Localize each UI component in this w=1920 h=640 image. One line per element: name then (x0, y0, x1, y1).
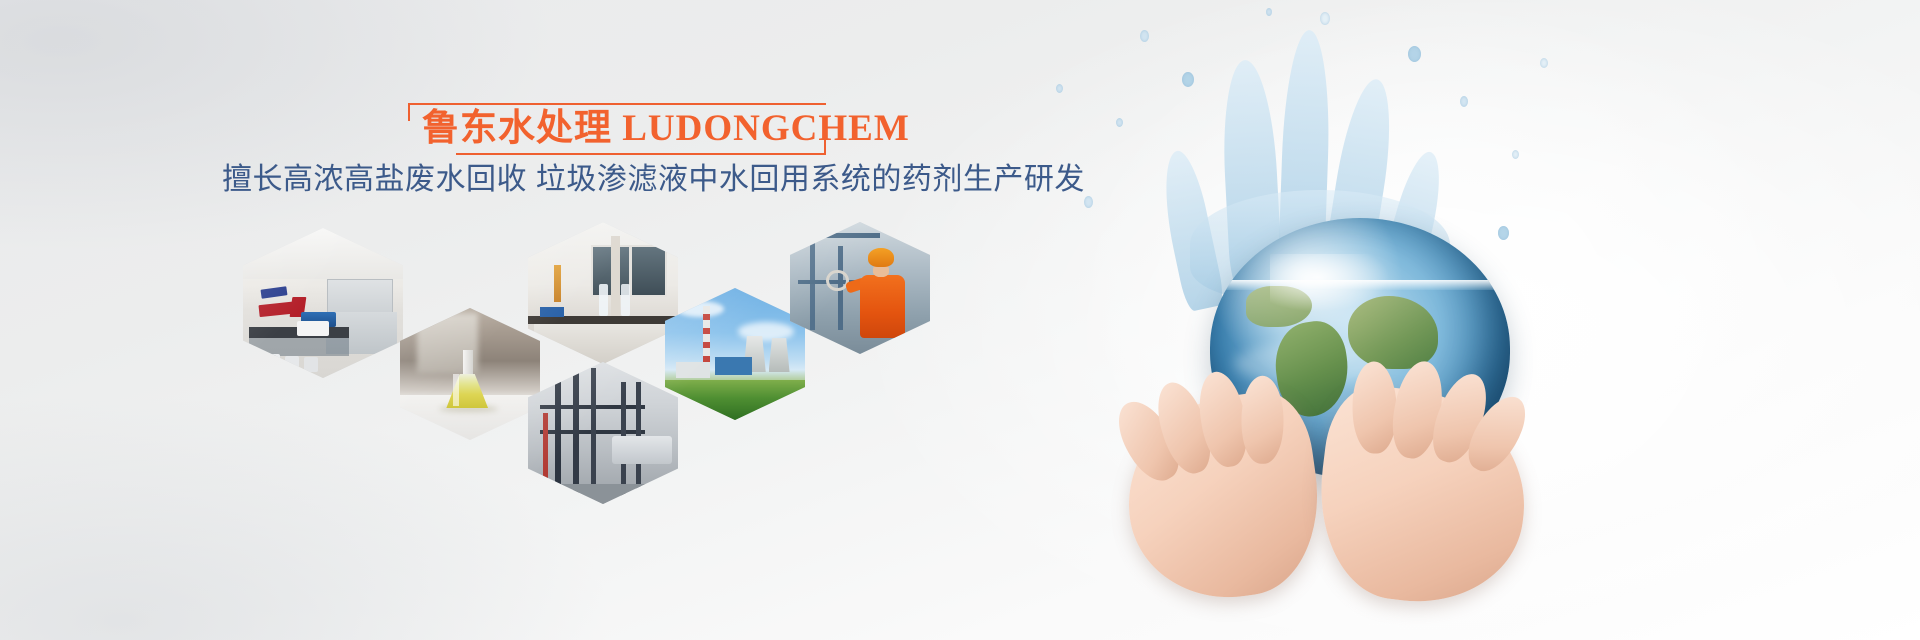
water-droplet-9 (1498, 226, 1509, 240)
globe-specular-highlight (1270, 254, 1390, 311)
hex-gloss-overlay (665, 288, 805, 420)
hex-photo-lab-equipment[interactable] (528, 222, 678, 364)
hex-photo-flask-sample[interactable] (400, 308, 540, 440)
water-droplet-11 (1540, 58, 1548, 68)
water-droplet-4 (1320, 12, 1330, 25)
water-droplet-6 (1460, 96, 1468, 107)
water-droplet-12 (1056, 84, 1063, 93)
promo-banner: 鲁东水处理 LUDONGCHEM 擅长高浓高盐废水回收 垃圾渗滤液中水回用系统的… (0, 0, 1920, 640)
hex-gloss-overlay (790, 222, 930, 354)
hexagon-photo-gallery (0, 0, 1000, 640)
hex-gloss-overlay (400, 308, 540, 440)
water-droplet-1 (1140, 30, 1149, 42)
hex-gloss-overlay (528, 222, 678, 364)
hex-photo-industrial-piping[interactable] (528, 362, 678, 504)
water-droplet-5 (1408, 46, 1421, 62)
hex-photo-worker[interactable] (790, 222, 930, 354)
hex-gloss-overlay (528, 362, 678, 504)
hex-photo-power-plant[interactable] (665, 288, 805, 420)
hex-gloss-overlay (243, 228, 403, 378)
hex-photo-laboratory-room[interactable] (243, 228, 403, 378)
water-droplet-7 (1512, 150, 1519, 159)
water-droplet-2 (1182, 72, 1194, 87)
water-globe-scene (1020, 0, 1920, 640)
left-finger-4 (1241, 376, 1283, 464)
water-droplet-8 (1084, 196, 1093, 208)
water-droplet-3 (1116, 118, 1123, 127)
water-droplet-10 (1266, 8, 1272, 16)
